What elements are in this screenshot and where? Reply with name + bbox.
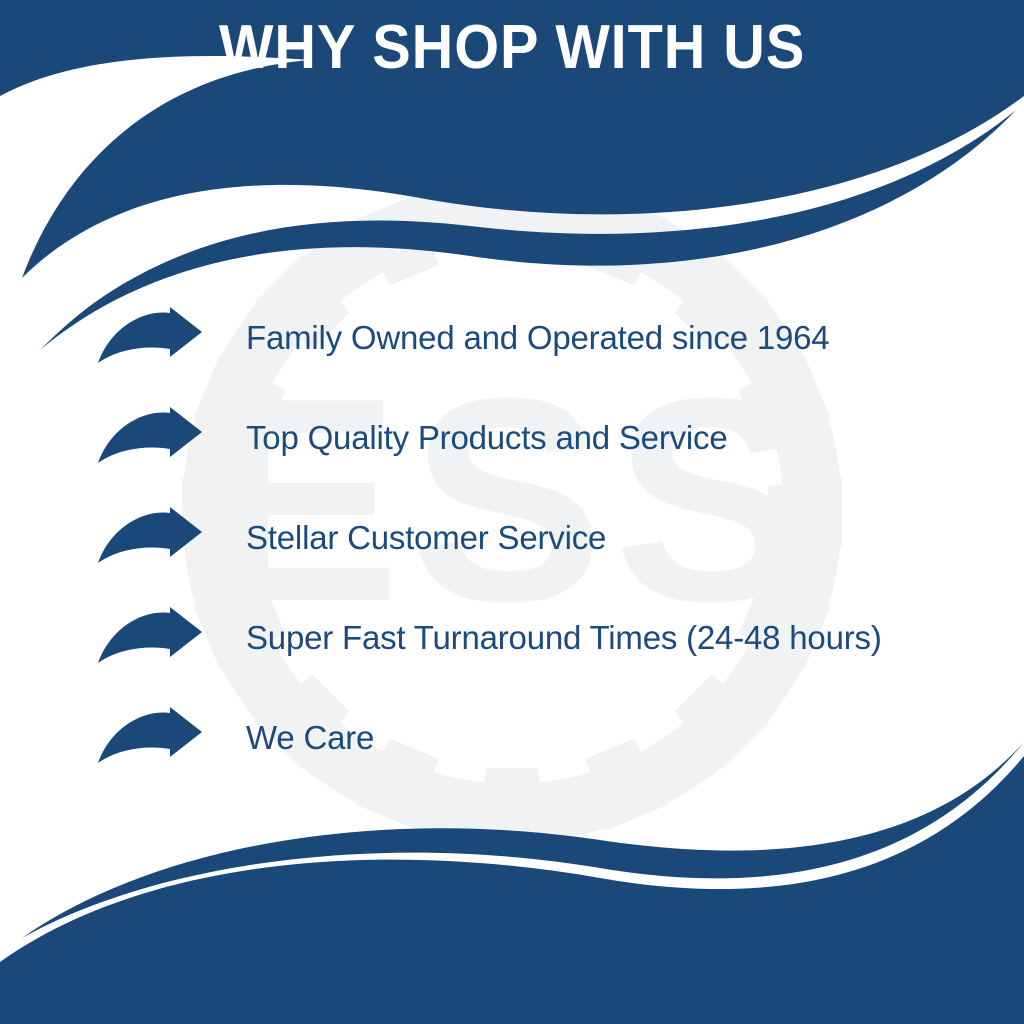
list-item-label: Family Owned and Operated since 1964 (246, 318, 829, 358)
list-item-label: Stellar Customer Service (246, 518, 606, 558)
list-item-label: Super Fast Turnaround Times (24-48 hours… (246, 618, 882, 658)
list-item: Super Fast Turnaround Times (24-48 hours… (96, 588, 996, 688)
list-item-label: We Care (246, 718, 374, 758)
benefits-list: Family Owned and Operated since 1964 Top… (96, 288, 996, 788)
curved-arrow-right-icon (96, 307, 204, 369)
page-title: WHY SHOP WITH US (219, 12, 805, 84)
promo-graphic: ESS WHY SHOP WITH US Family Owned and Op… (0, 0, 1024, 1024)
list-item: We Care (96, 688, 996, 788)
list-item: Stellar Customer Service (96, 488, 996, 588)
list-item: Top Quality Products and Service (96, 388, 996, 488)
header: WHY SHOP WITH US (0, 12, 1024, 84)
bottom-wave-shape (0, 756, 1024, 1024)
curved-arrow-right-icon (96, 707, 204, 769)
curved-arrow-right-icon (96, 607, 204, 669)
curved-arrow-right-icon (96, 507, 204, 569)
curved-arrow-right-icon (96, 407, 204, 469)
list-item-label: Top Quality Products and Service (246, 418, 728, 458)
list-item: Family Owned and Operated since 1964 (96, 288, 996, 388)
